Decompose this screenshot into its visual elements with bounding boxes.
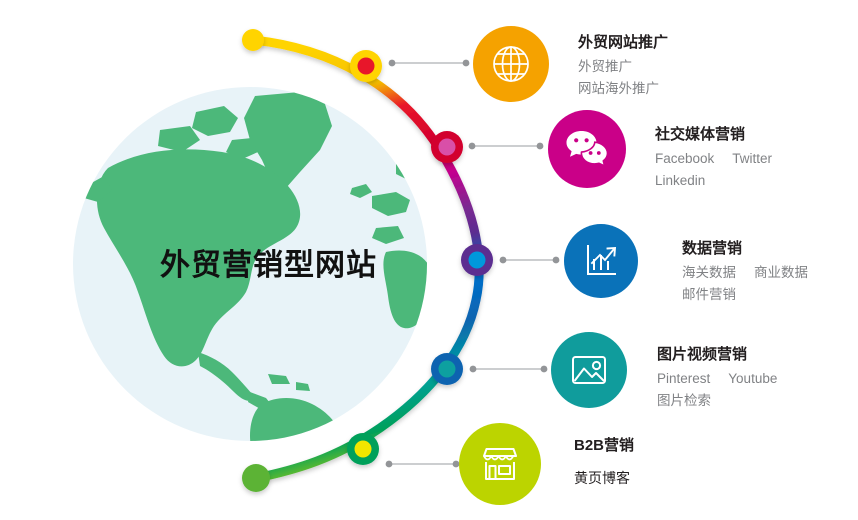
item-title: 外贸网站推广 [578,34,668,52]
arc-end-cap [242,464,270,492]
arc-start-cap [242,29,264,51]
arc-node-b2b[interactable] [347,433,379,465]
item-subtitle-line1: FacebookTwitter [655,149,772,170]
item-subtitle-line1: PinterestYoutube [657,369,777,390]
infographic-canvas: 外贸营销型网站 [0,0,858,520]
icon-badge-b2b[interactable] [459,423,541,505]
text-block-data-marketing: 数据营销 海关数据商业数据 邮件营销 [682,240,808,306]
icon-badge-data-marketing[interactable] [564,224,638,298]
item-subtitle-line2: 黄页博客 [574,468,634,490]
item-subtitle-line2: 邮件营销 [682,285,808,306]
icon-badge-image-video[interactable] [551,332,627,408]
item-title: 社交媒体营销 [655,126,772,144]
item-title: 数据营销 [682,240,808,258]
item-subtitle-line2: 图片检索 [657,391,777,412]
text-block-b2b: B2B营销 黄页博客 [574,437,634,490]
arc-node-website-promotion[interactable] [350,50,382,82]
connector-data-marketing [500,257,560,264]
item-subtitle-line2: 网站海外推广 [578,79,668,100]
globe-grid-icon [489,42,533,86]
connector-image-video [470,366,548,373]
icon-badge-website-promotion[interactable] [473,26,549,102]
text-block-image-video: 图片视频营销 PinterestYoutube 图片检索 [657,346,777,412]
chat-bubbles-icon [564,128,610,170]
arc-node-social-media[interactable] [431,131,463,163]
connector-b2b [386,461,460,468]
bar-chart-arrow-icon [581,241,621,281]
storefront-icon [477,443,523,485]
item-subtitle-line2: Linkedin [655,171,772,192]
arc-node-data-marketing[interactable] [461,244,493,276]
text-block-social-media: 社交媒体营销 FacebookTwitter Linkedin [655,126,772,192]
connector-website-promotion [389,60,470,67]
icon-badge-social-media[interactable] [548,110,626,188]
item-title: B2B营销 [574,437,634,455]
item-title: 图片视频营销 [657,346,777,364]
connector-social-media [469,143,544,150]
item-subtitle-line1: 外贸推广 [578,57,668,78]
item-subtitle-line1: 海关数据商业数据 [682,263,808,284]
page-title: 外贸营销型网站 [160,240,377,284]
text-block-website-promotion: 外贸网站推广 外贸推广 网站海外推广 [578,34,668,100]
photo-icon [568,350,610,390]
arc-node-image-video[interactable] [431,353,463,385]
